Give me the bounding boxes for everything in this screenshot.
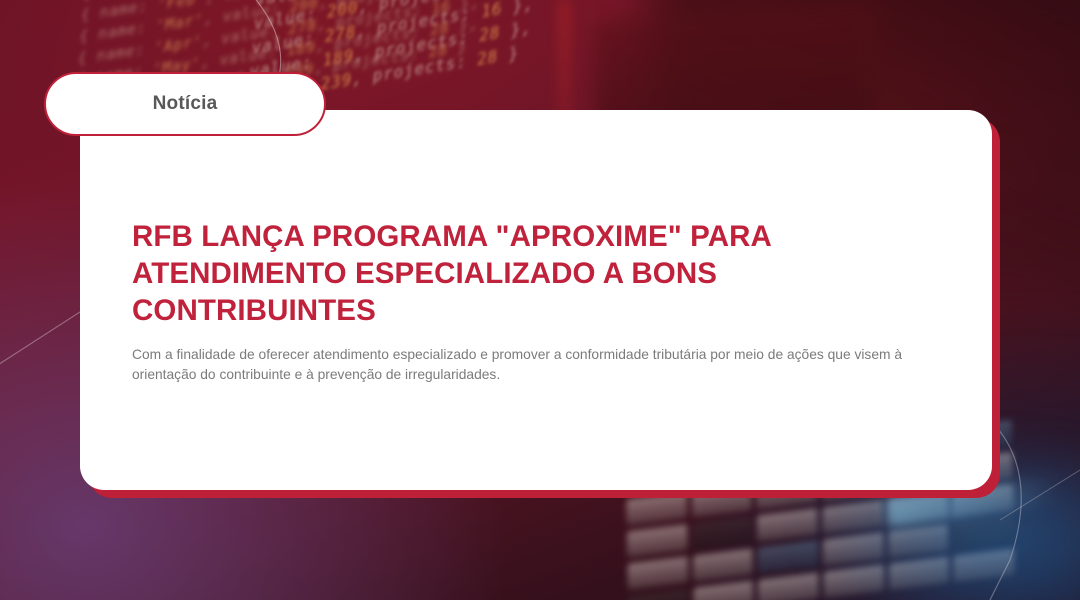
news-banner: import { const chartData = [ { name: 'Ja… [0,0,1080,600]
page-title: RFB lança programa "APROXIME" para atend… [132,218,862,329]
article-summary: Com a finalidade de oferecer atendimento… [132,345,936,385]
category-badge[interactable]: Notícia [44,72,326,136]
category-badge-label: Notícia [153,93,218,115]
news-card: RFB lança programa "APROXIME" para atend… [80,110,992,490]
